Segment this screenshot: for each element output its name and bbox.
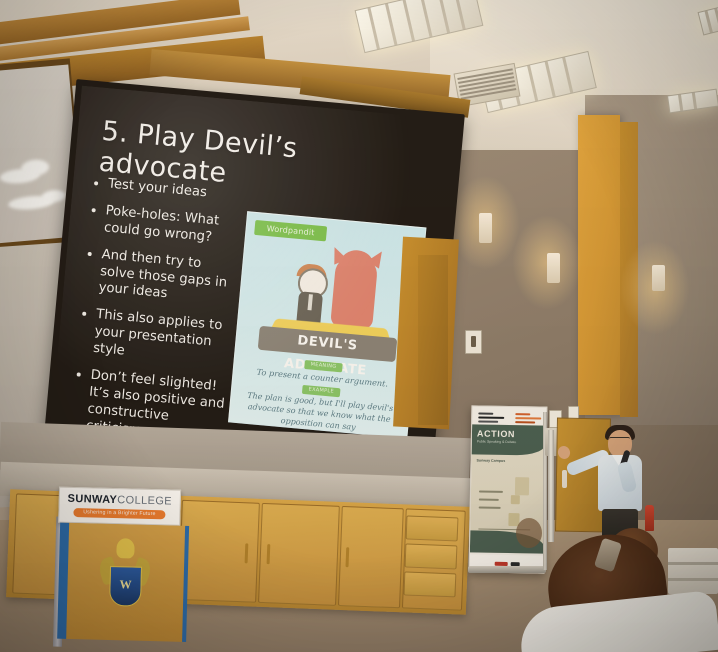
cabinet-door[interactable]: [402, 508, 466, 610]
background-table: [668, 548, 718, 594]
devil-body: [330, 254, 378, 330]
slide-bullet: Poke-holes: What could go wrong?: [103, 203, 242, 249]
sign-board: W: [57, 523, 189, 642]
lecture-hall-photo: 5. Play Devil’s advocate Test your ideas…: [0, 0, 718, 652]
crest-crown: [116, 538, 135, 558]
audience-member-far: [516, 518, 542, 548]
crest-shield: W: [109, 566, 142, 607]
cabinet-door[interactable]: [178, 500, 260, 603]
cabinet-drawer[interactable]: [403, 571, 456, 597]
slide-bullet: This also applies to your presentation s…: [92, 307, 233, 370]
sunway-college-sign: SUNWAYCOLLEGE Ushering in a Brighter Fut…: [45, 486, 179, 649]
banner-base-stand: [468, 566, 546, 573]
slide-bullet-list: Test your ideas Poke-holes: What could g…: [71, 175, 245, 457]
presenter: [584, 424, 656, 542]
wall-notice-sign: [465, 330, 482, 354]
wall-sconce: [652, 265, 665, 291]
wood-wall-panel: [418, 255, 448, 425]
banner-green-header: ACTION Public Speaking & Debate: [472, 424, 547, 455]
cabinet-drawer[interactable]: [406, 515, 459, 541]
college-name-light: COLLEGE: [117, 494, 172, 507]
wall-sconce: [479, 213, 492, 243]
sign-header: SUNWAYCOLLEGE Ushering in a Brighter Fut…: [58, 487, 181, 526]
slide-bullet: And then try to solve those gaps in your…: [98, 247, 239, 310]
cabinet-door[interactable]: [338, 506, 404, 608]
glasses-icon: [609, 437, 630, 443]
banner-date: Sunway Campus: [476, 458, 505, 463]
banner-title: ACTION: [477, 428, 515, 439]
cabinet-door[interactable]: [258, 503, 340, 606]
rollup-banner: ACTION Public Speaking & Debate Sunway C…: [469, 405, 548, 573]
orange-column-side: [620, 122, 638, 417]
sponsor-logo: [478, 412, 504, 421]
screen-support-pole: [548, 430, 554, 542]
door-handle[interactable]: [562, 470, 567, 488]
college-name-bold: SUNWAY: [67, 492, 117, 505]
orange-column: [578, 115, 620, 415]
crest-letter: W: [110, 577, 140, 593]
banner-subtitle: Public Speaking & Debate: [477, 439, 516, 444]
sponsor-logo: [515, 413, 541, 422]
cabinet-drawer[interactable]: [405, 543, 458, 569]
wall-sconce: [547, 253, 560, 283]
banner-sponsor-logos: [472, 408, 546, 425]
college-crest: W: [101, 536, 149, 615]
college-tagline: Ushering in a Brighter Future: [73, 507, 166, 518]
